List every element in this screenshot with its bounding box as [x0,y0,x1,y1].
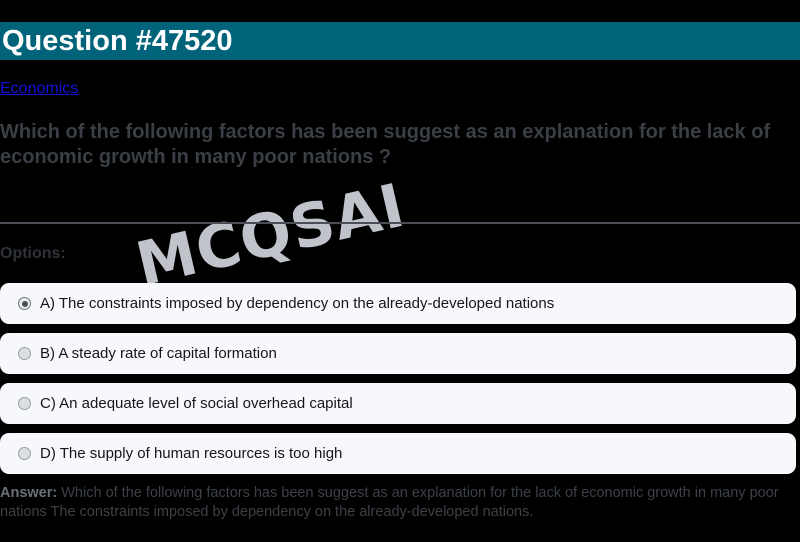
section-divider [0,222,800,224]
option-row-c[interactable]: C) An adequate level of social overhead … [0,383,796,424]
option-row-d[interactable]: D) The supply of human resources is too … [0,433,796,474]
option-row-b[interactable]: B) A steady rate of capital formation [0,333,796,374]
site-watermark: MCQSAI [130,171,411,301]
radio-button-c[interactable] [18,397,31,410]
question-header-bar: Question #47520 [0,22,800,60]
question-page: MCQSAI Question #47520 Economics Which o… [0,0,800,542]
option-label-c: C) An adequate level of social overhead … [40,396,353,411]
answer-label: Answer: [0,485,57,501]
page-title: Question #47520 [0,27,233,56]
options-list: A) The constraints imposed by dependency… [0,283,796,483]
radio-button-b[interactable] [18,347,31,360]
option-label-a: A) The constraints imposed by dependency… [40,296,554,311]
radio-button-d[interactable] [18,447,31,460]
category-link-economics[interactable]: Economics [0,80,78,98]
answer-block: Answer: Which of the following factors h… [0,484,800,522]
answer-text: Which of the following factors has been … [0,485,779,520]
radio-button-a[interactable] [18,297,31,310]
option-label-d: D) The supply of human resources is too … [40,446,342,461]
option-label-b: B) A steady rate of capital formation [40,346,277,361]
options-label: Options: [0,245,66,263]
question-text: Which of the following factors has been … [0,120,800,170]
option-row-a[interactable]: A) The constraints imposed by dependency… [0,283,796,324]
